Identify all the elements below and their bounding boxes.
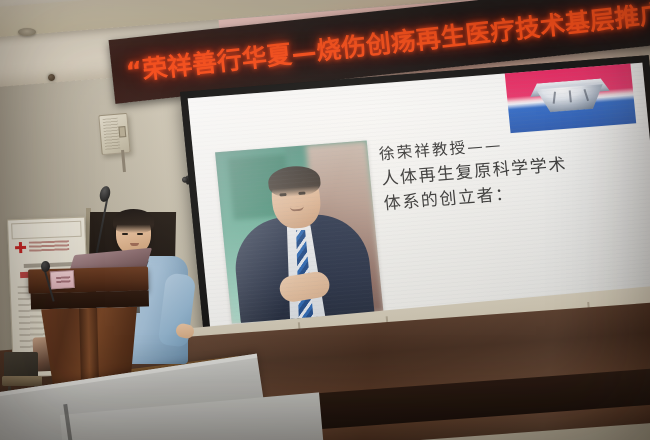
presenter-eye-right [137, 233, 143, 235]
slide-text-block: 徐荣祥教授—— 人体再生复原科学学术 体系的创立者： [378, 124, 638, 219]
poster-header-bar [11, 221, 82, 240]
presenter-eye-left [122, 233, 128, 235]
gem-banner-image [505, 63, 637, 134]
portrait-photo [215, 140, 383, 323]
presenter-hair [113, 209, 154, 233]
podium-band [31, 290, 149, 309]
presentation-photo-scene: “荣祥善行华夏—烧伤创疡再生医疗技术基层推广健康行”（广 [0, 0, 650, 440]
poster-brand-text [29, 240, 69, 252]
ceiling-downlight [18, 28, 36, 36]
podium-microphone-head [41, 261, 50, 272]
chair-back [4, 352, 38, 378]
wall-speaker [98, 113, 130, 155]
beam-bolt [48, 74, 55, 81]
red-cross-icon [15, 242, 26, 253]
podium-name-card [50, 270, 75, 289]
portrait-eye-left [279, 193, 286, 196]
